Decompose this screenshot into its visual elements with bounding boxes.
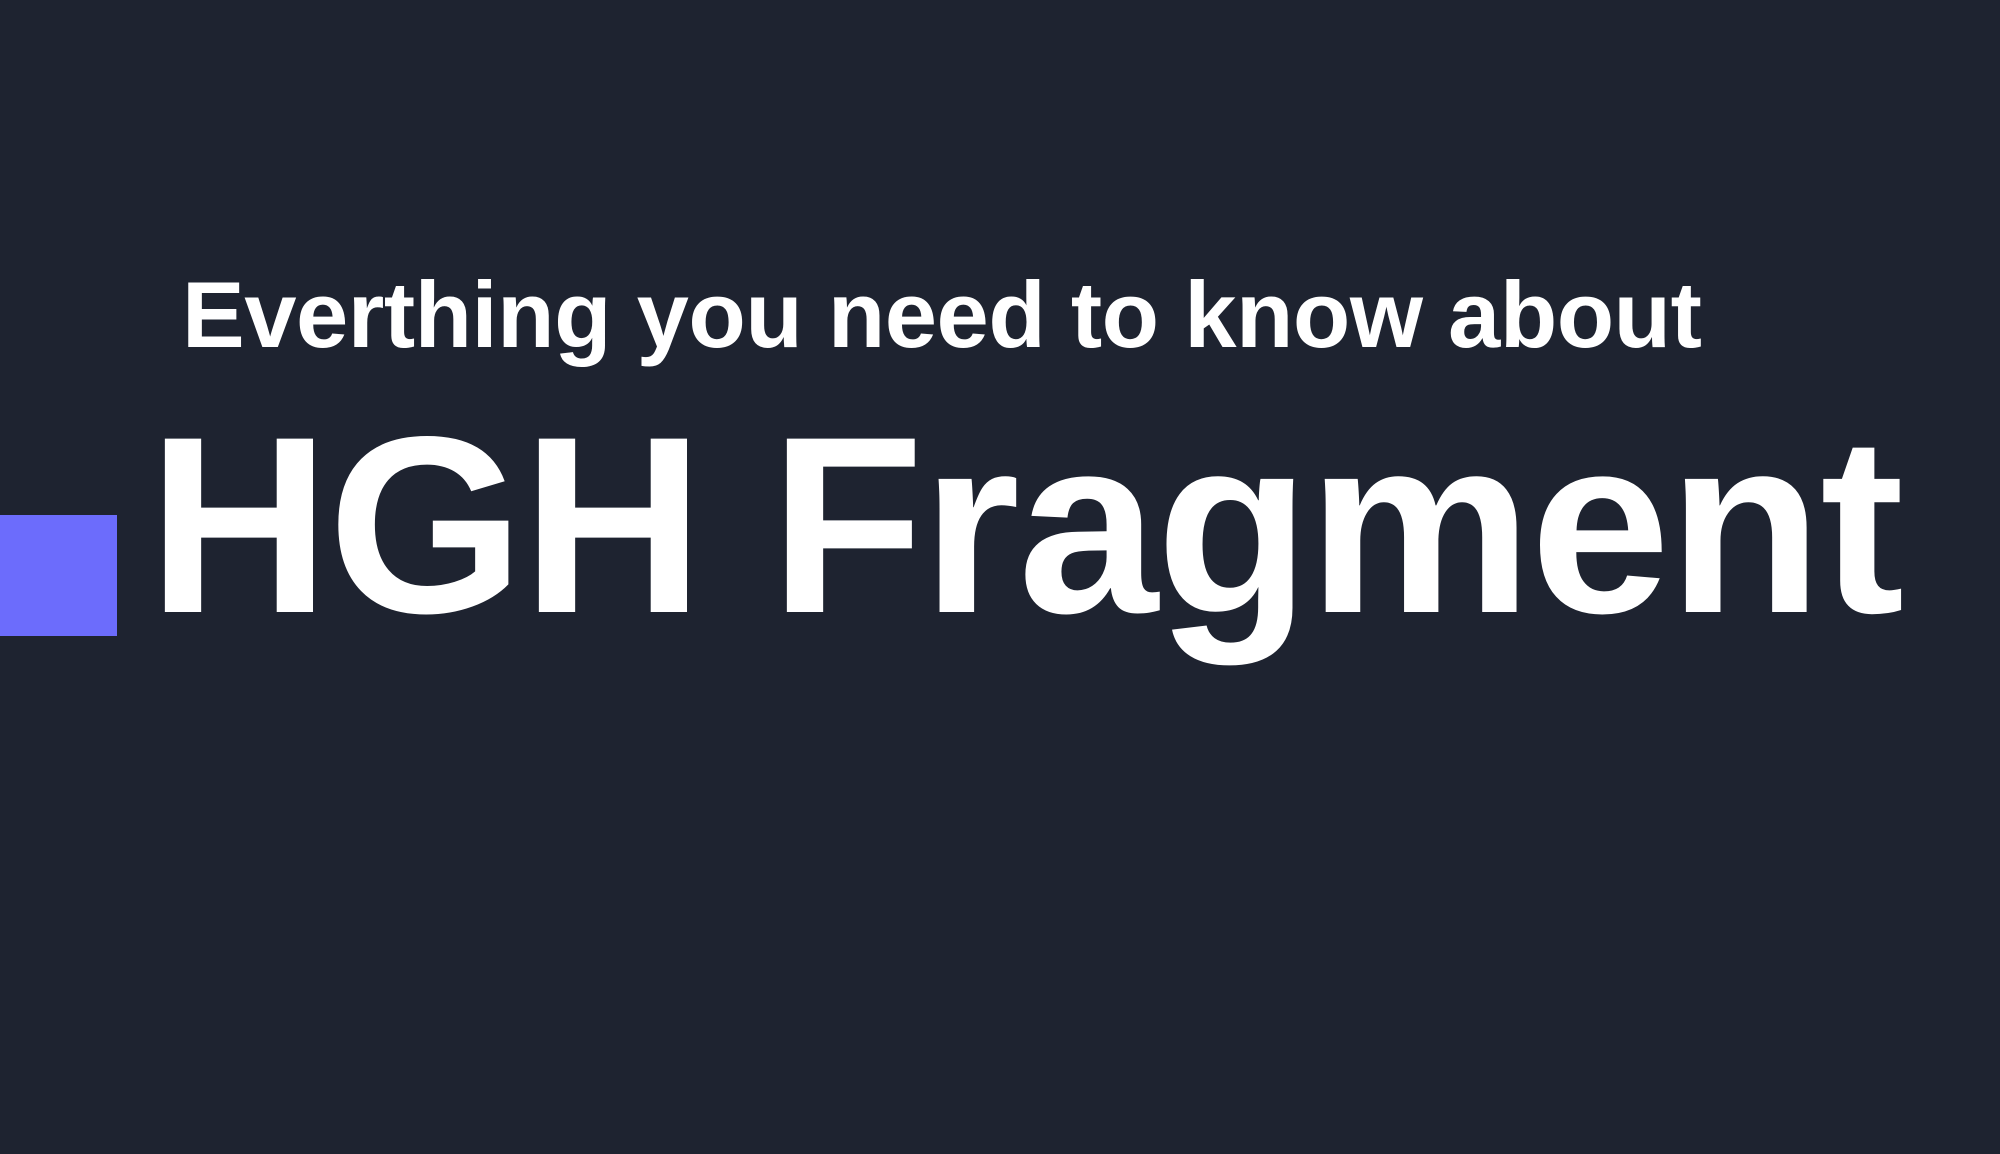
title-slide: Everthing you need to know about HGH Fra… xyxy=(0,0,2000,1154)
headline-block: Everthing you need to know about HGH Fra… xyxy=(0,0,2000,1154)
eyebrow-text: Everthing you need to know about xyxy=(182,268,1701,362)
page-title: HGH Fragment xyxy=(148,400,1902,652)
